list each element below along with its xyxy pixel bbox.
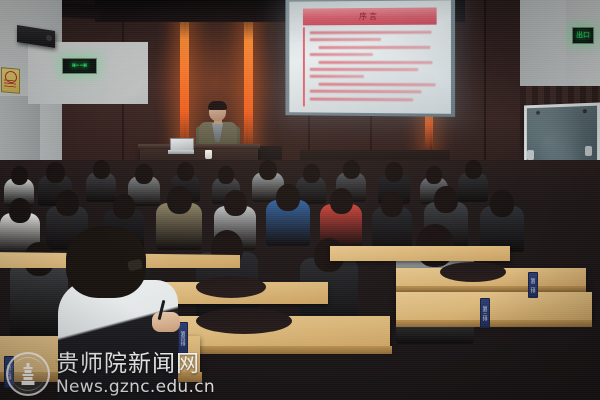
exit-sign-right: 出口 <box>572 27 594 44</box>
desk-notch <box>196 276 266 298</box>
watermark: 贵师院新闻网 News.gznc.edu.cn <box>6 350 246 398</box>
desk-row-tag-label: 第四排 <box>180 331 187 346</box>
board-clip <box>583 109 587 113</box>
front-student-hand <box>152 312 180 332</box>
slide-text-line <box>310 31 431 35</box>
slide-title: 序言 <box>359 11 379 22</box>
slide-text-line <box>310 53 374 56</box>
laptop-icon <box>168 138 194 155</box>
pagoda-glyph <box>22 363 35 385</box>
projected-slide: 序言 <box>289 0 451 114</box>
desk-notch <box>440 262 506 282</box>
pagoda-emblem-icon <box>6 352 50 396</box>
right-wall-upper <box>520 0 566 90</box>
lectern-top <box>138 144 260 149</box>
exit-sign-left: ⇤⇥ <box>62 58 97 74</box>
laptop-keyboard <box>168 150 194 154</box>
slide-text-line <box>310 97 414 101</box>
photo-canvas: ⇤⇥ 出口 序言 <box>0 0 600 400</box>
slide-text-line <box>319 61 433 64</box>
slide-text-line <box>319 46 431 49</box>
presenter-hair <box>208 101 227 110</box>
slide-text-line <box>310 38 381 41</box>
easel-knob <box>527 150 534 160</box>
wall-light-strip <box>180 6 189 156</box>
projection-screen: 序言 <box>285 0 455 117</box>
desk-row-1b <box>396 292 592 322</box>
wall-light-strip <box>244 8 253 156</box>
slide-title-bar: 序言 <box>303 7 437 25</box>
no-smoking-text-lines <box>4 79 16 87</box>
desk-row-3b <box>330 246 510 261</box>
watermark-chinese: 贵师院新闻网 <box>56 353 215 376</box>
no-smoking-sign <box>1 67 20 94</box>
exit-arrow-icon: ⇤⇥ <box>72 62 87 71</box>
paper-cup <box>205 150 212 159</box>
watermark-english: News.gznc.edu.cn <box>56 379 215 396</box>
desk-row-tag: 第二排 <box>528 272 538 298</box>
slide-text-line <box>310 90 421 94</box>
board-clip <box>536 111 540 115</box>
exit-label-icon: 出口 <box>576 32 590 39</box>
desk-edge <box>396 320 592 327</box>
desk-row-tag-label: 第二排 <box>530 278 537 293</box>
slide-text-line <box>310 75 364 78</box>
easel-knob <box>585 146 592 156</box>
slide-body-text <box>303 27 437 108</box>
desk-row-tag: 第三排 <box>480 298 490 328</box>
desk-notch <box>196 308 292 334</box>
slide-text-line <box>310 68 419 71</box>
slide-text-line <box>319 83 436 87</box>
desk-row-tag-label: 第三排 <box>482 306 489 321</box>
watermark-text: 贵师院新闻网 News.gznc.edu.cn <box>56 353 215 396</box>
